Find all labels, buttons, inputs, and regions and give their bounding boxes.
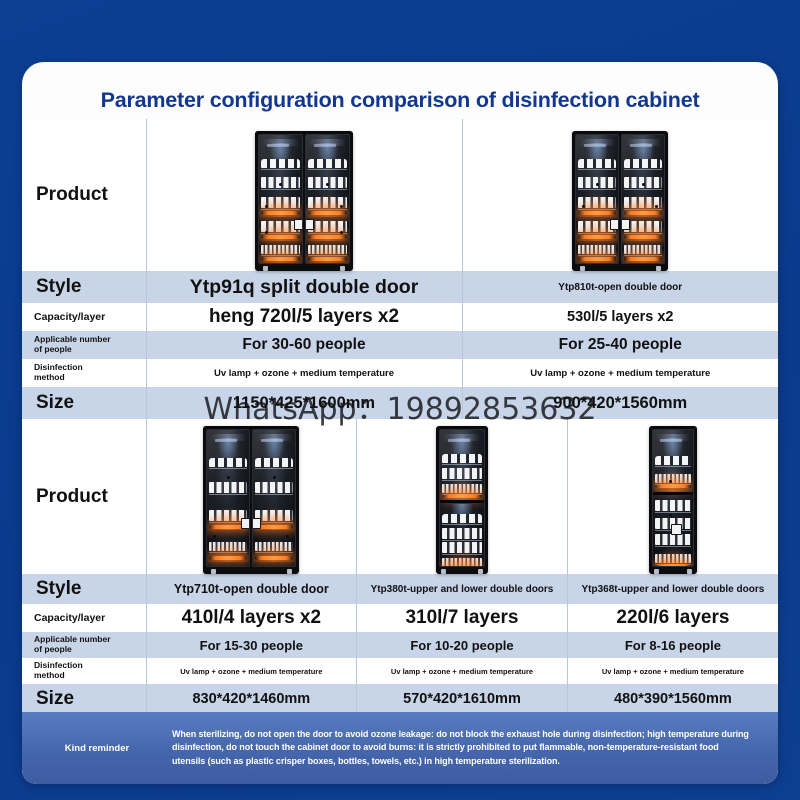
table-row-size: Size 1150*425*1600mm 900*420*1560mm <box>22 387 778 419</box>
table-row-product: Product <box>22 119 778 271</box>
row-label-product: Product <box>22 119 146 271</box>
table-row-disinfection: Disinfection method Uv lamp + ozone + me… <box>22 359 778 387</box>
product-cell-2 <box>462 119 778 271</box>
table-row-disinfection-2: Disinfection method Uv lamp + ozone + me… <box>22 658 778 684</box>
disinfection-value-1: Uv lamp + ozone + medium temperature <box>146 359 462 387</box>
table-row-product-2: Product <box>22 419 778 574</box>
row-label-style: Style <box>22 271 146 303</box>
size-value-3: 830*420*1460mm <box>146 684 357 714</box>
reminder-label: Kind reminder <box>22 743 172 754</box>
product-cell-3 <box>146 419 357 574</box>
disinfection-value-3: Uv lamp + ozone + medium temperature <box>146 658 357 684</box>
cabinet-image-ytp710t <box>203 426 299 574</box>
capacity-value-3: 410l/4 layers x2 <box>146 604 357 632</box>
row-label-style-2: Style <box>22 574 146 604</box>
row-label-size-2: Size <box>22 684 146 714</box>
style-value-2: Ytp810t-open double door <box>462 271 778 303</box>
product-cell-4 <box>357 419 568 574</box>
cabinet-image-ytp380t <box>436 426 488 574</box>
capacity-value-5: 220l/6 layers <box>567 604 778 632</box>
table-row-style-2: Style Ytp710t-open double door Ytp380t-u… <box>22 574 778 604</box>
cabinet-image-ytp810t <box>572 131 668 271</box>
poster-root: Parameter configuration comparison of di… <box>0 0 800 800</box>
size-value-2: 900*420*1560mm <box>462 387 778 419</box>
row-label-capacity-2: Capacity/layer <box>22 604 146 632</box>
capacity-value-4: 310l/7 layers <box>357 604 568 632</box>
style-value-1: Ytp91q split double door <box>146 271 462 303</box>
row-label-product-2: Product <box>22 419 146 574</box>
table-row-size-2: Size 830*420*1460mm 570*420*1610mm 480*3… <box>22 684 778 714</box>
applicable-value-1: For 30-60 people <box>146 331 462 359</box>
style-value-5: Ytp368t-upper and lower double doors <box>567 574 778 604</box>
row-label-size: Size <box>22 387 146 419</box>
product-cell-1 <box>146 119 462 271</box>
cabinet-image-ytp91q <box>255 131 353 271</box>
table-row-applicable-2: Applicable number of people For 15-30 pe… <box>22 632 778 658</box>
row-label-disinfection2-line2: method <box>34 671 146 681</box>
spec-table-top: Product <box>22 119 778 419</box>
spec-panel: Parameter configuration comparison of di… <box>22 62 778 784</box>
style-value-3: Ytp710t-open double door <box>146 574 357 604</box>
applicable-value-4: For 10-20 people <box>357 632 568 658</box>
table-row-style: Style Ytp91q split double door Ytp810t-o… <box>22 271 778 303</box>
applicable-value-2: For 25-40 people <box>462 331 778 359</box>
row-label-applicable-2: Applicable number of people <box>22 632 146 658</box>
style-value-4: Ytp380t-upper and lower double doors <box>357 574 568 604</box>
page-title: Parameter configuration comparison of di… <box>22 62 778 119</box>
spec-table-bottom: Product <box>22 419 778 714</box>
disinfection-value-5: Uv lamp + ozone + medium temperature <box>567 658 778 684</box>
table-row-capacity-2: Capacity/layer 410l/4 layers x2 310l/7 l… <box>22 604 778 632</box>
table-row-applicable: Applicable number of people For 30-60 pe… <box>22 331 778 359</box>
capacity-value-2: 530l/5 layers x2 <box>462 303 778 331</box>
disinfection-value-4: Uv lamp + ozone + medium temperature <box>357 658 568 684</box>
disinfection-value-2: Uv lamp + ozone + medium temperature <box>462 359 778 387</box>
row-label-capacity: Capacity/layer <box>22 303 146 331</box>
table-row-capacity: Capacity/layer heng 720l/5 layers x2 530… <box>22 303 778 331</box>
kind-reminder-band: Kind reminder When sterilizing, do not o… <box>22 712 778 784</box>
applicable-value-5: For 8-16 people <box>567 632 778 658</box>
cabinet-image-ytp368t <box>649 426 697 574</box>
row-label-applicable: Applicable number of people <box>22 331 146 359</box>
row-label-applicable-line2: of people <box>34 345 146 355</box>
row-label-disinfection: Disinfection method <box>22 359 146 387</box>
size-value-5: 480*390*1560mm <box>567 684 778 714</box>
size-value-4: 570*420*1610mm <box>357 684 568 714</box>
row-label-disinfection-2: Disinfection method <box>22 658 146 684</box>
applicable-value-3: For 15-30 people <box>146 632 357 658</box>
capacity-value-1: heng 720l/5 layers x2 <box>146 303 462 331</box>
row-label-applicable2-line2: of people <box>34 645 146 655</box>
size-value-1: 1150*425*1600mm <box>146 387 462 419</box>
row-label-disinfection-line2: method <box>34 373 146 383</box>
product-cell-5 <box>567 419 778 574</box>
reminder-text: When sterilizing, do not open the door t… <box>172 728 778 767</box>
